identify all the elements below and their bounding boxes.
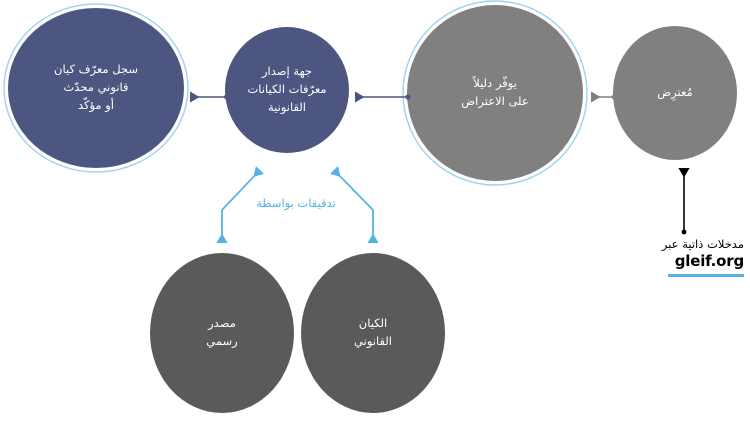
circle-lei-issuer[interactable] bbox=[225, 27, 349, 153]
diagram-canvas: سجل معرّف كيان قانوني محدّث أو مؤكّد جهة… bbox=[0, 0, 750, 425]
circle-official-source[interactable] bbox=[150, 253, 294, 413]
gleif-note: مدخلات ذاتية عبر gleif.org bbox=[636, 236, 744, 277]
diagram-svg-layer bbox=[0, 0, 750, 425]
circle-lei-record[interactable] bbox=[8, 8, 184, 168]
arrow-challenger-to-evidence bbox=[591, 95, 616, 100]
gleif-note-underline bbox=[668, 274, 744, 277]
gleif-note-line1: مدخلات ذاتية عبر bbox=[636, 236, 744, 252]
circle-legal-entity[interactable] bbox=[301, 253, 445, 413]
arrow-issuer-to-record bbox=[190, 95, 228, 99]
arrow-gleif-to-challenger bbox=[682, 168, 687, 234]
circle-challenger[interactable] bbox=[613, 26, 737, 160]
arrow-evidence-to-issuer bbox=[355, 94, 411, 99]
circle-challenge-evidence[interactable] bbox=[407, 5, 583, 181]
gleif-note-url[interactable]: gleif.org bbox=[636, 252, 744, 272]
edge-label-verified-by: تدقيقات بواسطة bbox=[241, 195, 351, 211]
venn-group bbox=[150, 253, 445, 413]
